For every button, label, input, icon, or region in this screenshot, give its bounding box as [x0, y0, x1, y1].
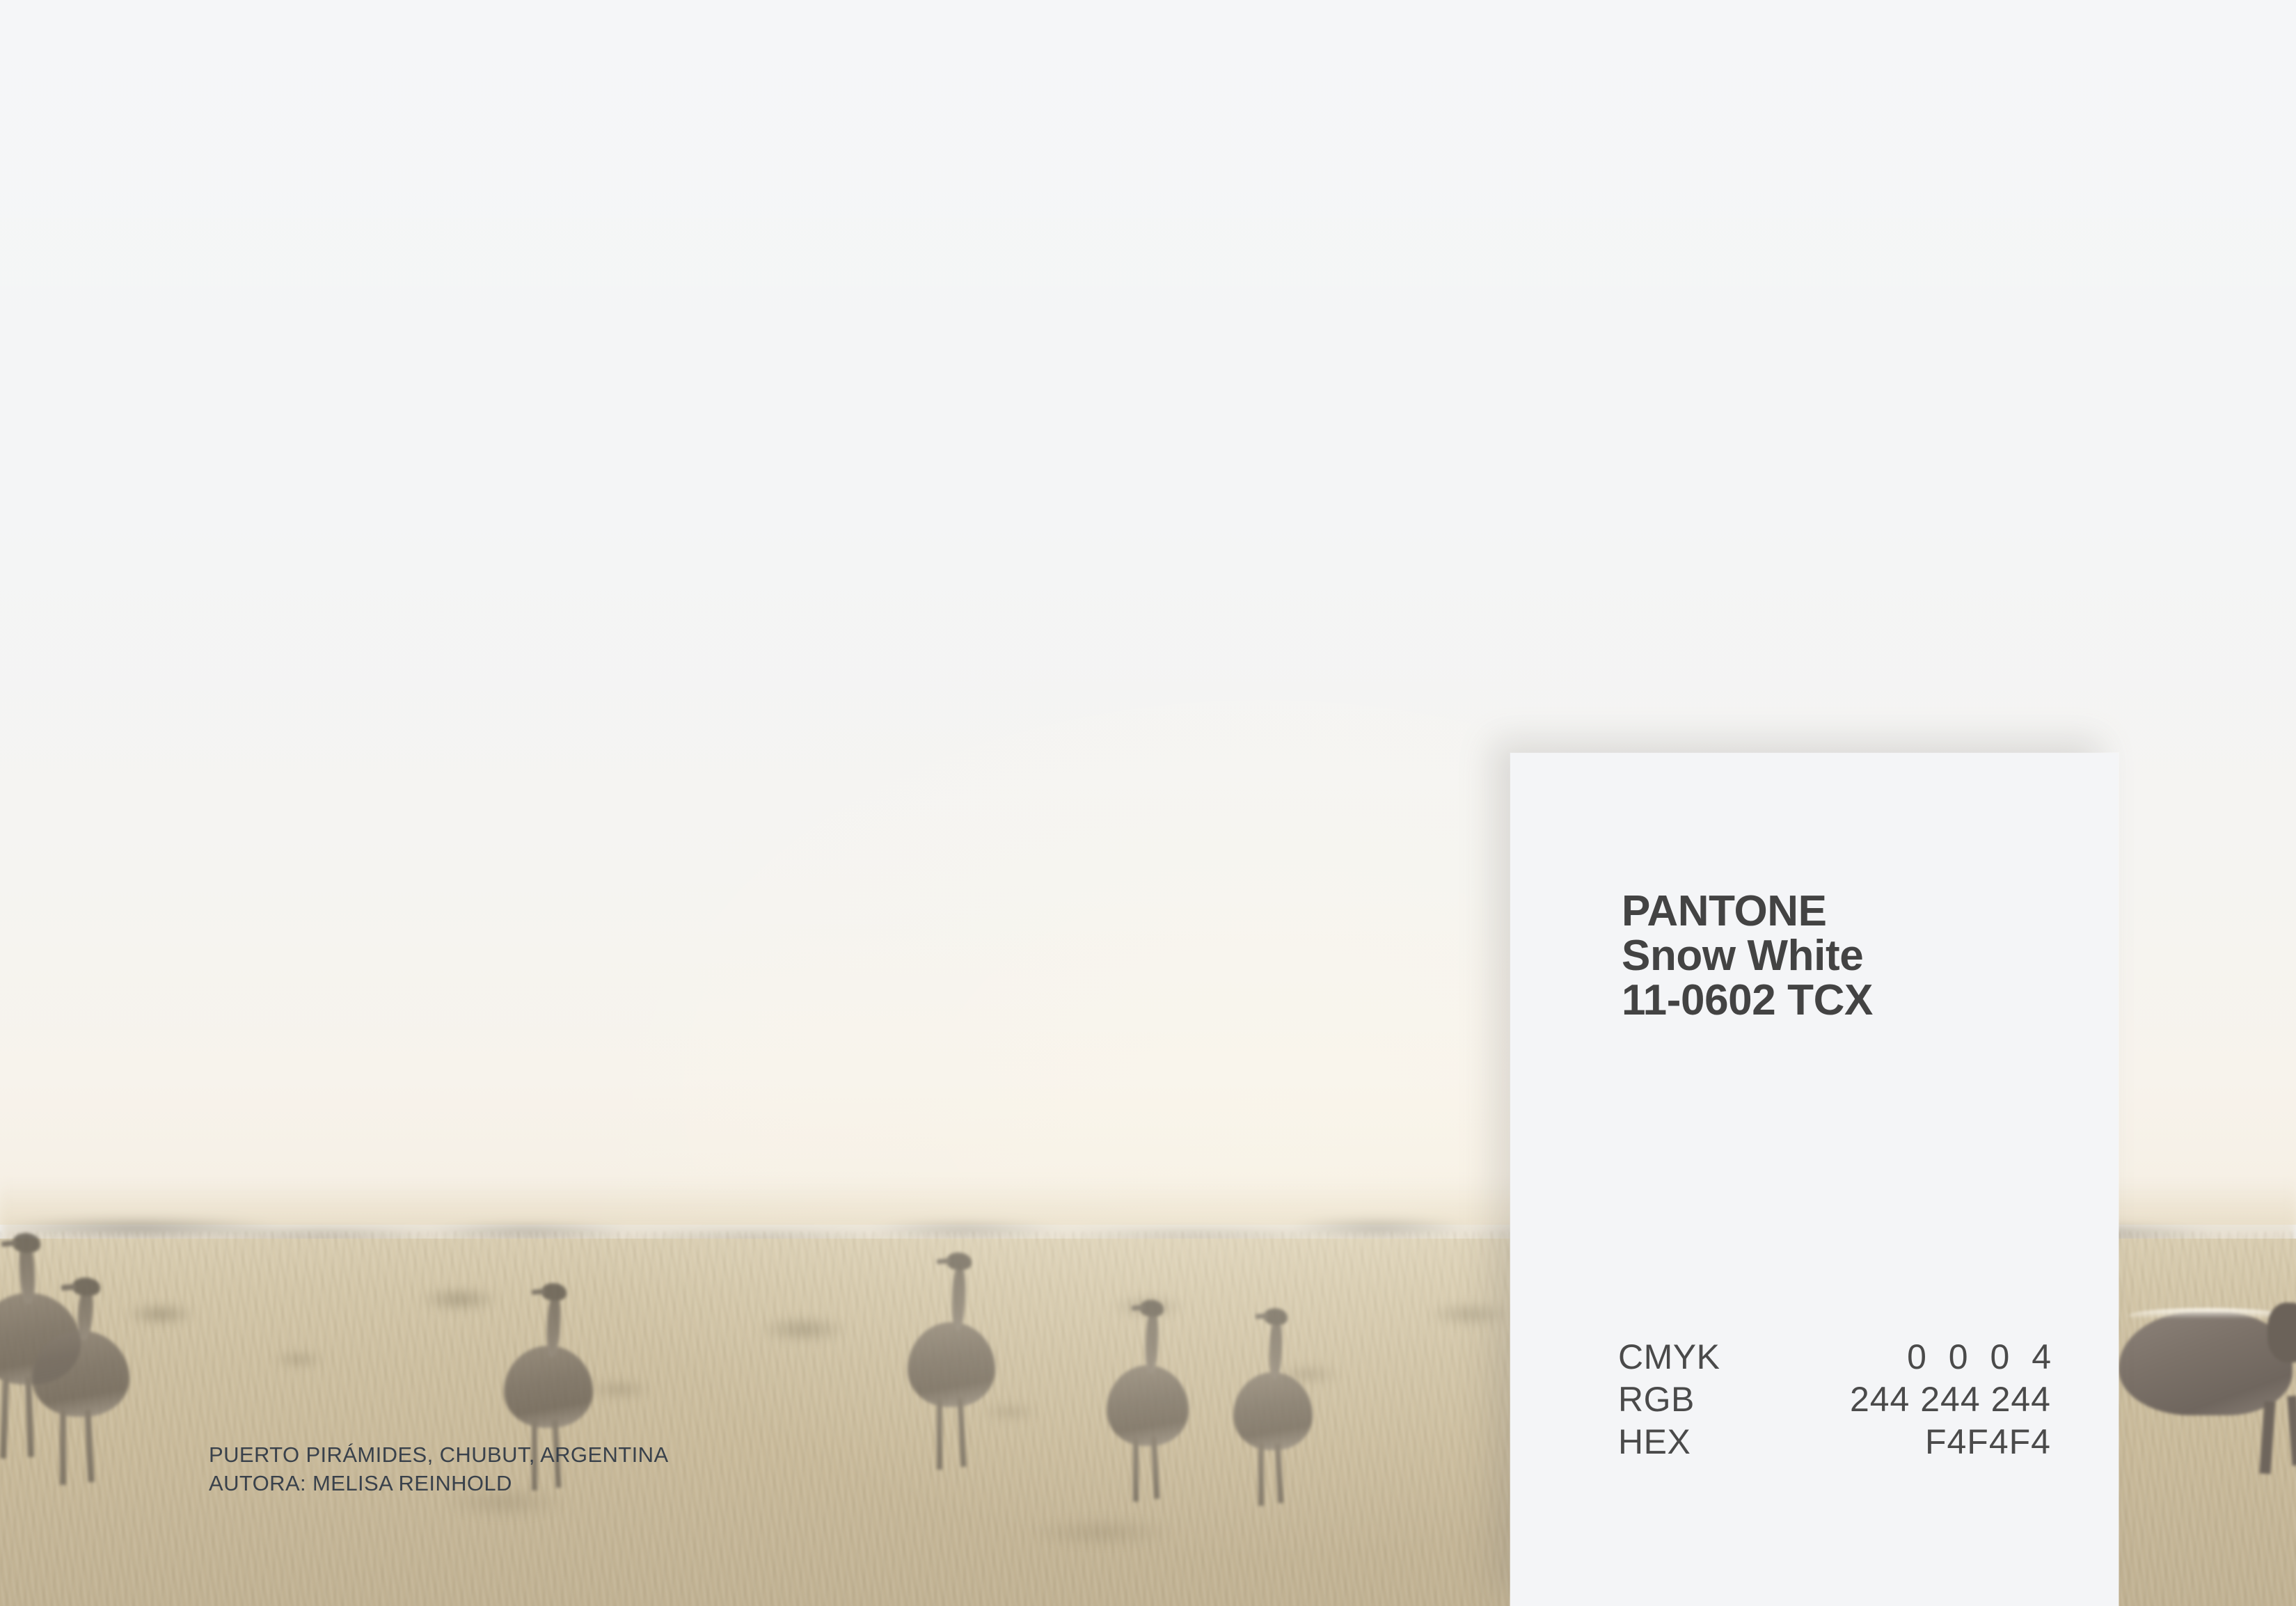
rhea-neck — [1268, 1318, 1283, 1380]
rhea-5 — [1104, 1291, 1201, 1500]
rhea-body — [504, 1346, 593, 1428]
rhea-body — [32, 1330, 129, 1417]
rhea-leg — [957, 1397, 966, 1467]
caption-author: AUTORA: MELISA REINHOLD — [209, 1469, 669, 1497]
rhea-body — [1107, 1365, 1189, 1446]
screenshot-root: PUERTO PIRÁMIDES, CHUBUT, ARGENTINA AUTO… — [0, 0, 2296, 1606]
photo-credit-caption: PUERTO PIRÁMIDES, CHUBUT, ARGENTINA AUTO… — [209, 1440, 669, 1497]
hex-value: F4F4F4 — [1925, 1421, 2051, 1463]
rhea-leg — [937, 1397, 942, 1470]
pantone-color-name: Snow White — [1622, 934, 1873, 978]
pantone-swatch-card: PANTONE Snow White 11-0602 TCX CMYK 0 0 … — [1510, 753, 2119, 1606]
sheep-body — [2119, 1312, 2293, 1415]
pantone-color-values: CMYK 0 0 0 4 RGB 244 244 244 HEX F4F4F4 — [1618, 1336, 2051, 1463]
rhea-leg — [0, 1376, 9, 1458]
rhea-6 — [1230, 1303, 1325, 1504]
rhea-leg — [1133, 1436, 1139, 1502]
rhea-neck — [1144, 1310, 1159, 1374]
pantone-brand: PANTONE — [1622, 889, 1873, 934]
pantone-code: 11-0602 TCX — [1622, 978, 1873, 1023]
rhea-4 — [905, 1250, 1009, 1472]
rhea-leg — [1151, 1436, 1160, 1499]
value-row-cmyk: CMYK 0 0 0 4 — [1618, 1336, 2051, 1378]
hex-label: HEX — [1618, 1421, 1691, 1463]
rhea-leg — [84, 1410, 94, 1482]
value-row-rgb: RGB 244 244 244 — [1618, 1378, 2051, 1421]
rhea-2 — [26, 1273, 145, 1482]
sheep-back-highlight — [2128, 1308, 2286, 1323]
rhea-leg — [1275, 1443, 1283, 1503]
rhea-beak — [1256, 1313, 1268, 1319]
sheep-leg — [2259, 1401, 2275, 1474]
cmyk-value: 0 0 0 4 — [1907, 1336, 2057, 1378]
sheep-leg — [2288, 1396, 2296, 1466]
rhea-beak — [1132, 1305, 1144, 1310]
caption-location: PUERTO PIRÁMIDES, CHUBUT, ARGENTINA — [209, 1440, 669, 1469]
rgb-label: RGB — [1618, 1378, 1695, 1421]
rhea-body — [908, 1322, 995, 1407]
cmyk-label: CMYK — [1618, 1336, 1720, 1378]
pantone-heading: PANTONE Snow White 11-0602 TCX — [1622, 889, 1873, 1023]
sheep — [2119, 1291, 2296, 1500]
rgb-value: 244 244 244 — [1850, 1378, 2051, 1421]
rhea-leg — [60, 1410, 66, 1485]
value-row-hex: HEX F4F4F4 — [1618, 1421, 2051, 1463]
sheep-head — [2267, 1303, 2296, 1362]
rhea-leg — [1258, 1443, 1264, 1506]
rhea-neck — [951, 1264, 966, 1331]
rhea-body — [1233, 1372, 1313, 1450]
